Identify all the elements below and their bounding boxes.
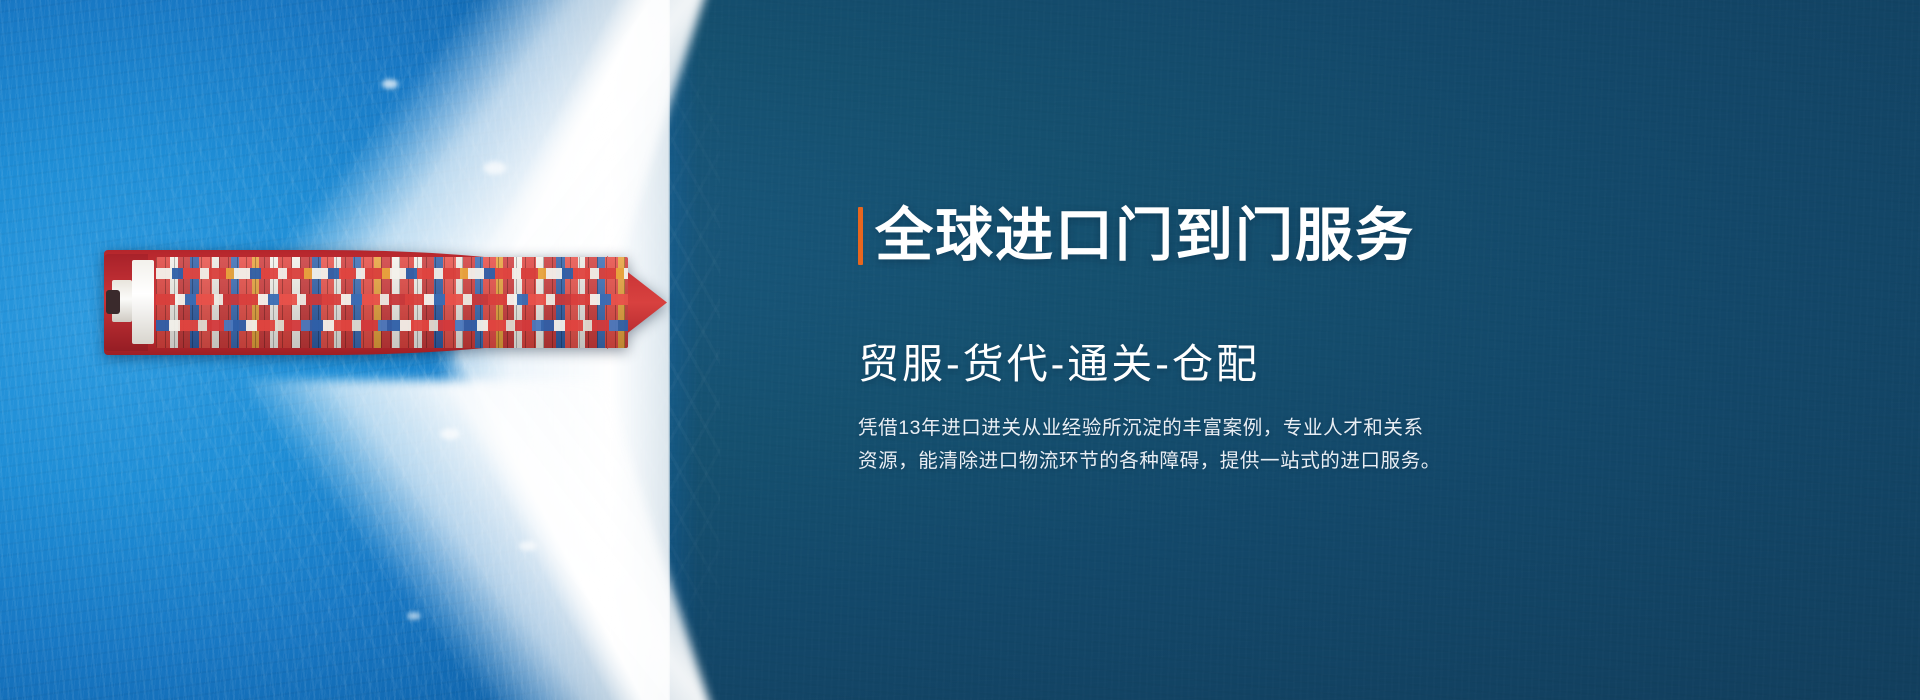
container-row (156, 294, 628, 305)
banner-description: 凭借13年进口进关从业经验所沉淀的丰富案例，专业人才和关系 资源，能清除进口物流… (858, 412, 1558, 478)
container-row (156, 268, 628, 279)
description-line-1: 凭借13年进口进关从业经验所沉淀的丰富案例，专业人才和关系 (858, 412, 1558, 445)
hero-banner: 全球进口门到门服务 贸服-货代-通关-仓配 凭借13年进口进关从业经验所沉淀的丰… (0, 0, 1920, 700)
banner-subheadline: 贸服-货代-通关-仓配 (858, 340, 1558, 388)
banner-headline: 全球进口门到门服务 (875, 205, 1415, 267)
container-row (156, 320, 628, 331)
headline-row: 全球进口门到门服务 (858, 166, 1558, 306)
banner-copy-block: 全球进口门到门服务 贸服-货代-通关-仓配 凭借13年进口进关从业经验所沉淀的丰… (858, 166, 1558, 478)
accent-bar-icon (858, 207, 863, 265)
description-line-2: 资源，能清除进口物流环节的各种障碍，提供一站式的进口服务。 (858, 445, 1558, 478)
ship-superstructure (132, 260, 154, 344)
container-ship-image (104, 250, 649, 355)
ship-funnel (106, 290, 120, 314)
